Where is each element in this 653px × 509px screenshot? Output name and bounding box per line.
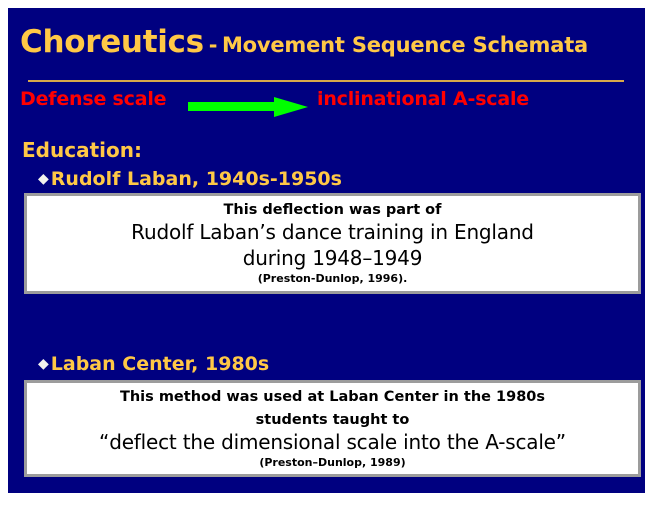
box-lead-line-2: students taught to	[27, 411, 638, 429]
right-arrow-icon	[188, 97, 310, 117]
box-citation: (Preston–Dunlop, 1989)	[27, 456, 638, 470]
box-lead-line-1: This method was used at Laban Center in …	[27, 388, 638, 406]
diamond-bullet-icon: ◆	[38, 171, 49, 187]
box-lead-line: This deflection was part of	[27, 201, 638, 219]
list-item: ◆Laban Center, 1980s	[38, 353, 269, 375]
title-divider-rule	[28, 80, 624, 82]
box-main-line-2: during 1948–1949	[27, 245, 638, 271]
scale-transition-row: Defense scale inclinational A-scale	[20, 88, 635, 116]
quote-box-laban-center: This method was used at Laban Center in …	[24, 380, 641, 477]
box-main-line-1: Rudolf Laban’s dance training in England	[27, 219, 638, 245]
slide-root: Choreutics- Movement Sequence Schemata D…	[0, 0, 653, 509]
slide-title: Choreutics- Movement Sequence Schemata	[20, 24, 635, 60]
quote-box-laban-training: This deflection was part of Rudolf Laban…	[24, 193, 641, 294]
list-item-label: Rudolf Laban, 1940s-1950s	[51, 168, 342, 190]
scale-label-right: inclinational A-scale	[317, 88, 529, 110]
title-main-word: Choreutics	[20, 24, 204, 60]
scale-label-left: Defense scale	[20, 88, 166, 110]
title-subtitle: Movement Sequence Schemata	[222, 33, 588, 57]
arrow-shaft	[188, 102, 276, 111]
title-dash: -	[204, 33, 218, 57]
diamond-bullet-icon: ◆	[38, 356, 49, 372]
box-main-line-1: “deflect the dimensional scale into the …	[27, 429, 638, 455]
arrow-head	[274, 97, 308, 117]
list-item-label: Laban Center, 1980s	[51, 353, 269, 375]
slide-canvas: Choreutics- Movement Sequence Schemata D…	[8, 8, 645, 493]
list-item: ◆Rudolf Laban, 1940s-1950s	[38, 168, 342, 190]
box-citation: (Preston-Dunlop, 1996).	[27, 272, 638, 286]
section-heading-education: Education:	[22, 138, 142, 162]
